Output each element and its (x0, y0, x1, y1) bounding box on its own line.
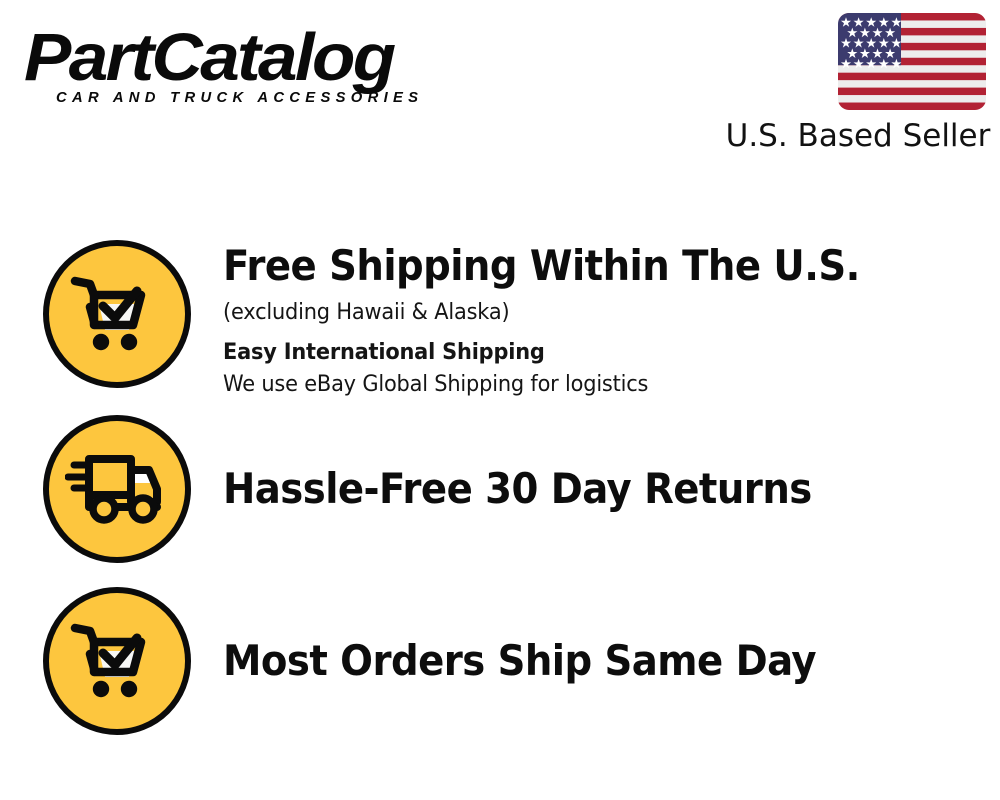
feature-title: Hassle-Free 30 Day Returns (223, 465, 938, 513)
shopping-cart-check-icon (43, 587, 191, 735)
feature-row: Free Shipping Within The U.S. (excluding… (0, 240, 1000, 401)
feature-text: Free Shipping Within The U.S. (excluding… (223, 240, 1000, 401)
header: PartCatalog CAR AND TRUCK ACCESSORIES (0, 0, 1000, 175)
promo-banner: PartCatalog CAR AND TRUCK ACCESSORIES (0, 0, 1000, 800)
feature-title: Most Orders Ship Same Day (223, 637, 938, 685)
feature-text: Most Orders Ship Same Day (223, 637, 1000, 685)
feature-subtitle-exclusion: (excluding Hawaii & Alaska) (223, 297, 961, 329)
brand-logo: PartCatalog CAR AND TRUCK ACCESSORIES (24, 22, 494, 117)
delivery-truck-icon (43, 415, 191, 563)
feature-subtitle-international: Easy International Shipping (223, 338, 961, 368)
feature-row: Hassle-Free 30 Day Returns (0, 414, 1000, 564)
us-flag-icon (838, 13, 986, 110)
feature-text: Hassle-Free 30 Day Returns (223, 465, 1000, 513)
brand-wordmark: PartCatalog (24, 22, 522, 94)
brand-tagline: CAR AND TRUCK ACCESSORIES (56, 90, 503, 106)
feature-subtitle-logistics: We use eBay Global Shipping for logistic… (223, 369, 961, 401)
feature-title: Free Shipping Within The U.S. (223, 242, 938, 290)
shopping-cart-check-icon (43, 240, 191, 388)
feature-row: Most Orders Ship Same Day (0, 586, 1000, 736)
us-based-seller-label: U.S. Based Seller (723, 118, 993, 154)
